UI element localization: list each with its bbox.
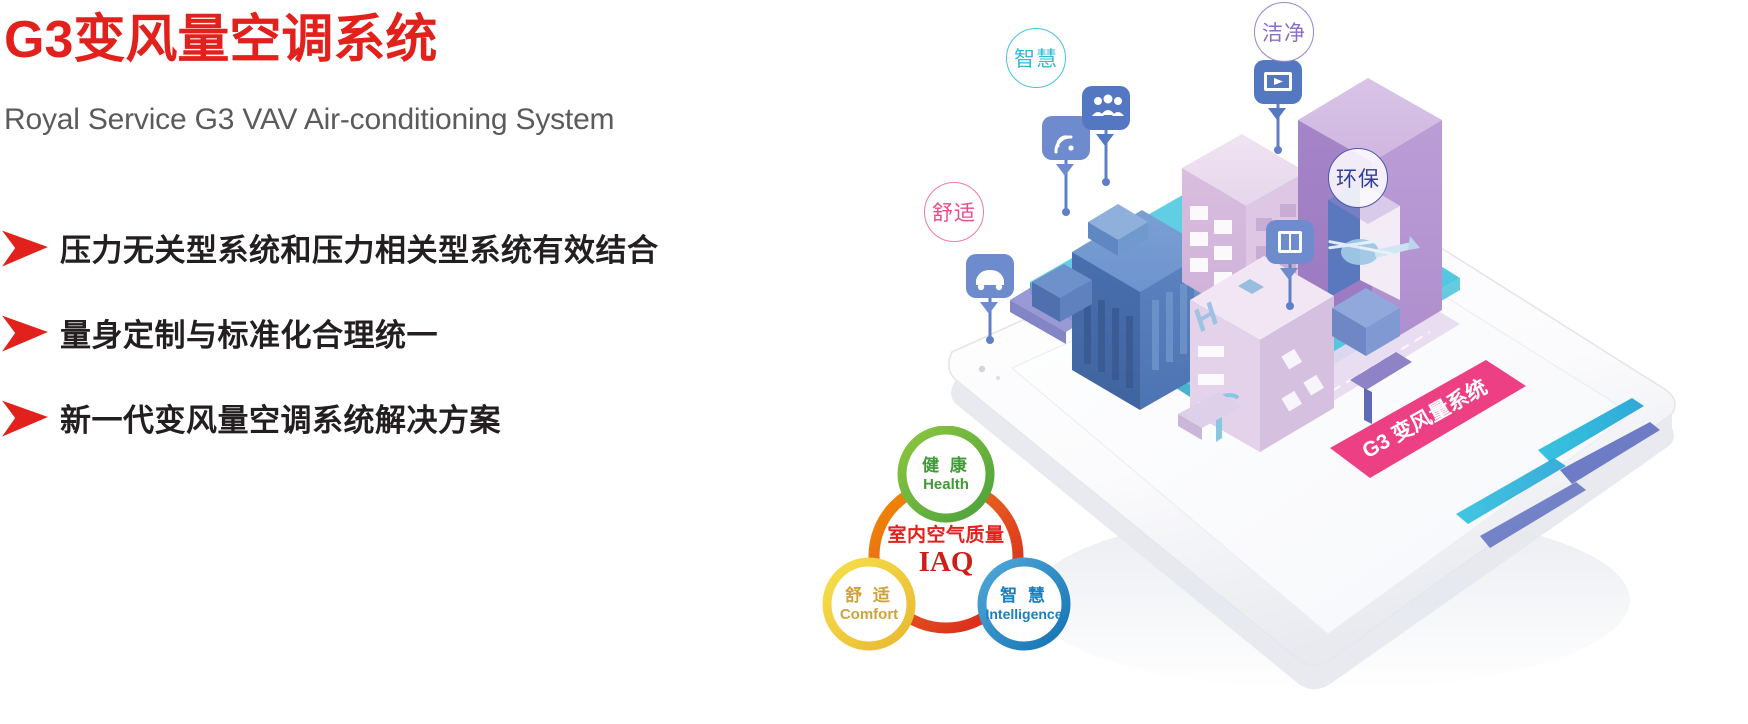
tag-circle-zhihui: 智慧: [1006, 28, 1066, 88]
list-item-label: 量身定制与标准化合理统一: [60, 310, 438, 355]
page-title: G3变风量空调系统: [4, 14, 437, 66]
text-column: G3变风量空调系统 Royal Service G3 VAV Air-condi…: [0, 0, 900, 724]
iaq-center-cn: 室内空气质量: [866, 520, 1026, 547]
tag-label: 舒适: [932, 197, 976, 227]
tag-label: 环保: [1336, 163, 1380, 193]
feature-bullet-list: 压力无关型系统和压力相关型系统有效结合 量身定制与标准化合理统一 新一代变风量空…: [0, 205, 880, 460]
iaq-center-label: 室内空气质量 IAQ: [866, 520, 1026, 577]
arrow-bullet-icon: [2, 228, 50, 268]
iaq-center-abbr: IAQ: [866, 547, 1026, 577]
wifi-pin-icon: [1042, 116, 1090, 216]
list-item: 压力无关型系统和压力相关型系统有效结合: [0, 205, 880, 290]
arrow-bullet-icon: [2, 398, 50, 438]
list-item-label: 新一代变风量空调系统解决方案: [60, 395, 501, 440]
list-item: 量身定制与标准化合理统一: [0, 290, 880, 375]
arrow-bullet-icon: [2, 313, 50, 353]
page-subtitle: Royal Service G3 VAV Air-conditioning Sy…: [4, 103, 614, 138]
tag-label: 洁净: [1262, 17, 1306, 47]
display-pin-icon: [1254, 60, 1302, 154]
tag-label: 智慧: [1014, 43, 1058, 73]
iaq-venn-diagram: 健 康 Health 舒 适 Comfort 智 慧 Intelligence …: [806, 426, 1086, 656]
tag-circle-jiejing: 洁净: [1254, 2, 1314, 62]
slide-canvas: G3变风量空调系统 Royal Service G3 VAV Air-condi…: [0, 0, 1748, 724]
list-item: 新一代变风量空调系统解决方案: [0, 375, 880, 460]
tag-circle-huanbao: 环保: [1328, 148, 1388, 208]
list-item-label: 压力无关型系统和压力相关型系统有效结合: [60, 225, 659, 270]
tag-circle-shushi: 舒适: [924, 182, 984, 242]
